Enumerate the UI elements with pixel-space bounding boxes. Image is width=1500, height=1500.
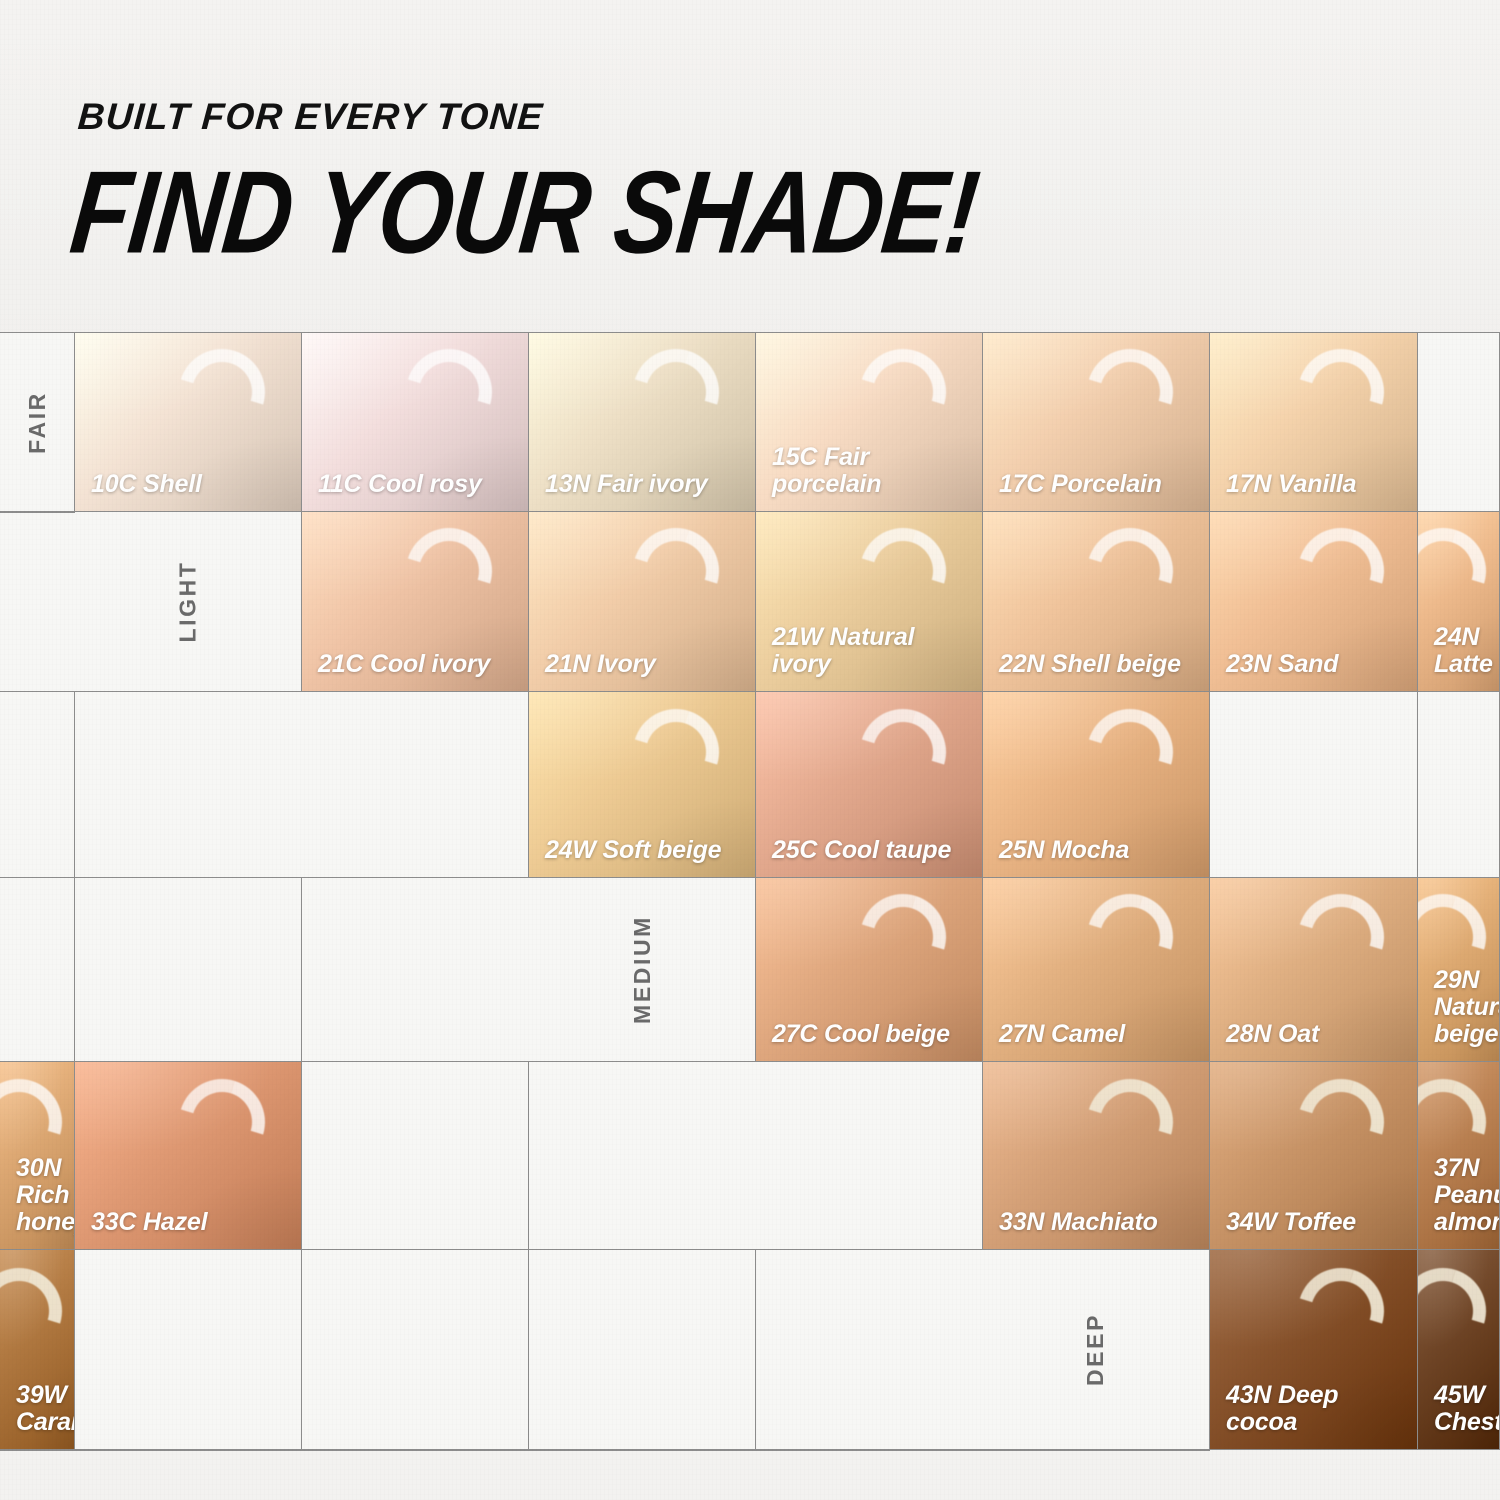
row-label-light: LIGHT [75,512,302,692]
row-label-text: DEEP [1082,1313,1109,1386]
empty-cell [302,1250,529,1450]
shade-name-label: 33C Hazel [91,1209,291,1236]
shade-swatch[interactable]: 21W Natural ivory [756,512,983,692]
shade-name-label: 11C Cool rosy [318,471,518,498]
empty-cell [529,1450,756,1451]
shade-swatch[interactable]: 25N Mocha [983,692,1210,878]
row-label-text: MEDIUM [629,915,656,1024]
shade-swatch[interactable]: 24W Soft beige [529,692,756,878]
shade-swatch[interactable]: 11C Cool rosy [302,332,529,512]
empty-cell [983,1450,1210,1451]
row-label-deep: DEEP [983,1250,1210,1450]
shade-name-label: 29N Natural beige [1434,967,1489,1048]
shade-swatch[interactable]: 43N Deep cocoa [1210,1250,1418,1450]
empty-cell [1418,692,1500,878]
row-label-text: FAIR [23,391,50,454]
shade-swatch[interactable]: 17N Vanilla [1210,332,1418,512]
empty-cell [529,1062,756,1250]
shade-name-label: 27C Cool beige [772,1021,972,1048]
row-label-medium: MEDIUM [529,878,756,1062]
page-title: FIND YOUR SHADE! [66,156,983,271]
page-header: BUILT FOR EVERY TONE FIND YOUR SHADE! [78,96,983,250]
shade-swatch[interactable]: 51N Fudge [75,1450,302,1451]
shade-name-label: 30N Rich honey [16,1155,64,1236]
shade-name-label: 34W Toffee [1226,1209,1407,1236]
row-label-fair: FAIR [0,332,75,512]
shade-name-label: 23N Sand [1226,651,1407,678]
shade-name-label: 24N Latte [1434,624,1489,678]
applicator-swipe-icon [0,1450,75,1451]
shade-swatch[interactable]: 25C Cool taupe [756,692,983,878]
shade-name-label: 28N Oat [1226,1021,1407,1048]
empty-cell [75,692,302,878]
empty-cell [75,878,302,1062]
shade-swatch[interactable]: 27N Camel [983,878,1210,1062]
shade-grid: FAIR10C Shell11C Cool rosy13N Fair ivory… [0,332,1500,1450]
shade-swatch[interactable]: 21N Ivory [529,512,756,692]
shade-swatch[interactable]: 21C Cool ivory [302,512,529,692]
shade-swatch[interactable]: 17C Porcelain [983,332,1210,512]
shade-chart-page: BUILT FOR EVERY TONE FIND YOUR SHADE! FA… [0,0,1500,1500]
shade-swatch[interactable]: 49N Deep Chestnut [0,1450,75,1451]
applicator-swipe-icon [391,1450,507,1451]
empty-cell [1210,692,1418,878]
shade-name-label: 27N Camel [999,1021,1199,1048]
empty-cell [0,878,75,1062]
shade-name-label: 22N Shell beige [999,651,1199,678]
empty-cell [302,1062,529,1250]
applicator-swipe-icon [164,1450,280,1451]
shade-name-label: 39W Caramel [16,1382,64,1436]
shade-grid-wrapper: FAIR10C Shell11C Cool rosy13N Fair ivory… [0,332,1500,1450]
shade-name-label: 17C Porcelain [999,471,1199,498]
empty-cell [75,1250,302,1450]
row-label-blank [302,692,529,878]
shade-swatch[interactable]: 13N Fair ivory [529,332,756,512]
shade-swatch[interactable]: 55N Espresso [302,1450,529,1451]
empty-cell [529,1250,756,1450]
empty-cell [302,878,529,1062]
empty-cell [0,512,75,692]
shade-name-label: 13N Fair ivory [545,471,745,498]
shade-swatch[interactable]: 33N Machiato [983,1062,1210,1250]
shade-swatch[interactable]: 10C Shell [75,332,302,512]
empty-cell [1418,332,1500,512]
empty-cell [756,1450,983,1451]
shade-name-label: 15C Fair porcelain [772,444,972,498]
shade-swatch[interactable]: 30N Rich honey [0,1062,75,1250]
shade-swatch[interactable]: 33C Hazel [75,1062,302,1250]
shade-swatch[interactable]: 39W Caramel [0,1250,75,1450]
shade-swatch[interactable]: 24N Latte [1418,512,1500,692]
shade-swatch[interactable]: 37N Peanut almond [1418,1062,1500,1250]
shade-name-label: 21C Cool ivory [318,651,518,678]
shade-swatch[interactable]: 23N Sand [1210,512,1418,692]
row-label-text: LIGHT [175,561,202,643]
shade-swatch[interactable]: 22N Shell beige [983,512,1210,692]
empty-cell [0,692,75,878]
shade-name-label: 10C Shell [91,471,291,498]
shade-name-label: 21W Natural ivory [772,624,972,678]
shade-swatch[interactable]: 45W Chestnut [1418,1250,1500,1450]
shade-swatch[interactable]: 34W Toffee [1210,1062,1418,1250]
shade-name-label: 25N Mocha [999,837,1199,864]
row-label-blank [756,1062,983,1250]
shade-name-label: 24W Soft beige [545,837,745,864]
shade-name-label: 25C Cool taupe [772,837,972,864]
header-kicker: BUILT FOR EVERY TONE [77,96,985,138]
shade-swatch[interactable]: 27C Cool beige [756,878,983,1062]
shade-name-label: 45W Chestnut [1434,1382,1489,1436]
shade-name-label: 17N Vanilla [1226,471,1407,498]
shade-swatch[interactable]: 15C Fair porcelain [756,332,983,512]
empty-cell [756,1250,983,1450]
shade-name-label: 37N Peanut almond [1434,1155,1489,1236]
shade-swatch[interactable]: 28N Oat [1210,878,1418,1062]
shade-name-label: 33N Machiato [999,1209,1199,1236]
shade-swatch[interactable]: 29N Natural beige [1418,878,1500,1062]
shade-name-label: 21N Ivory [545,651,745,678]
shade-name-label: 43N Deep cocoa [1226,1382,1407,1436]
